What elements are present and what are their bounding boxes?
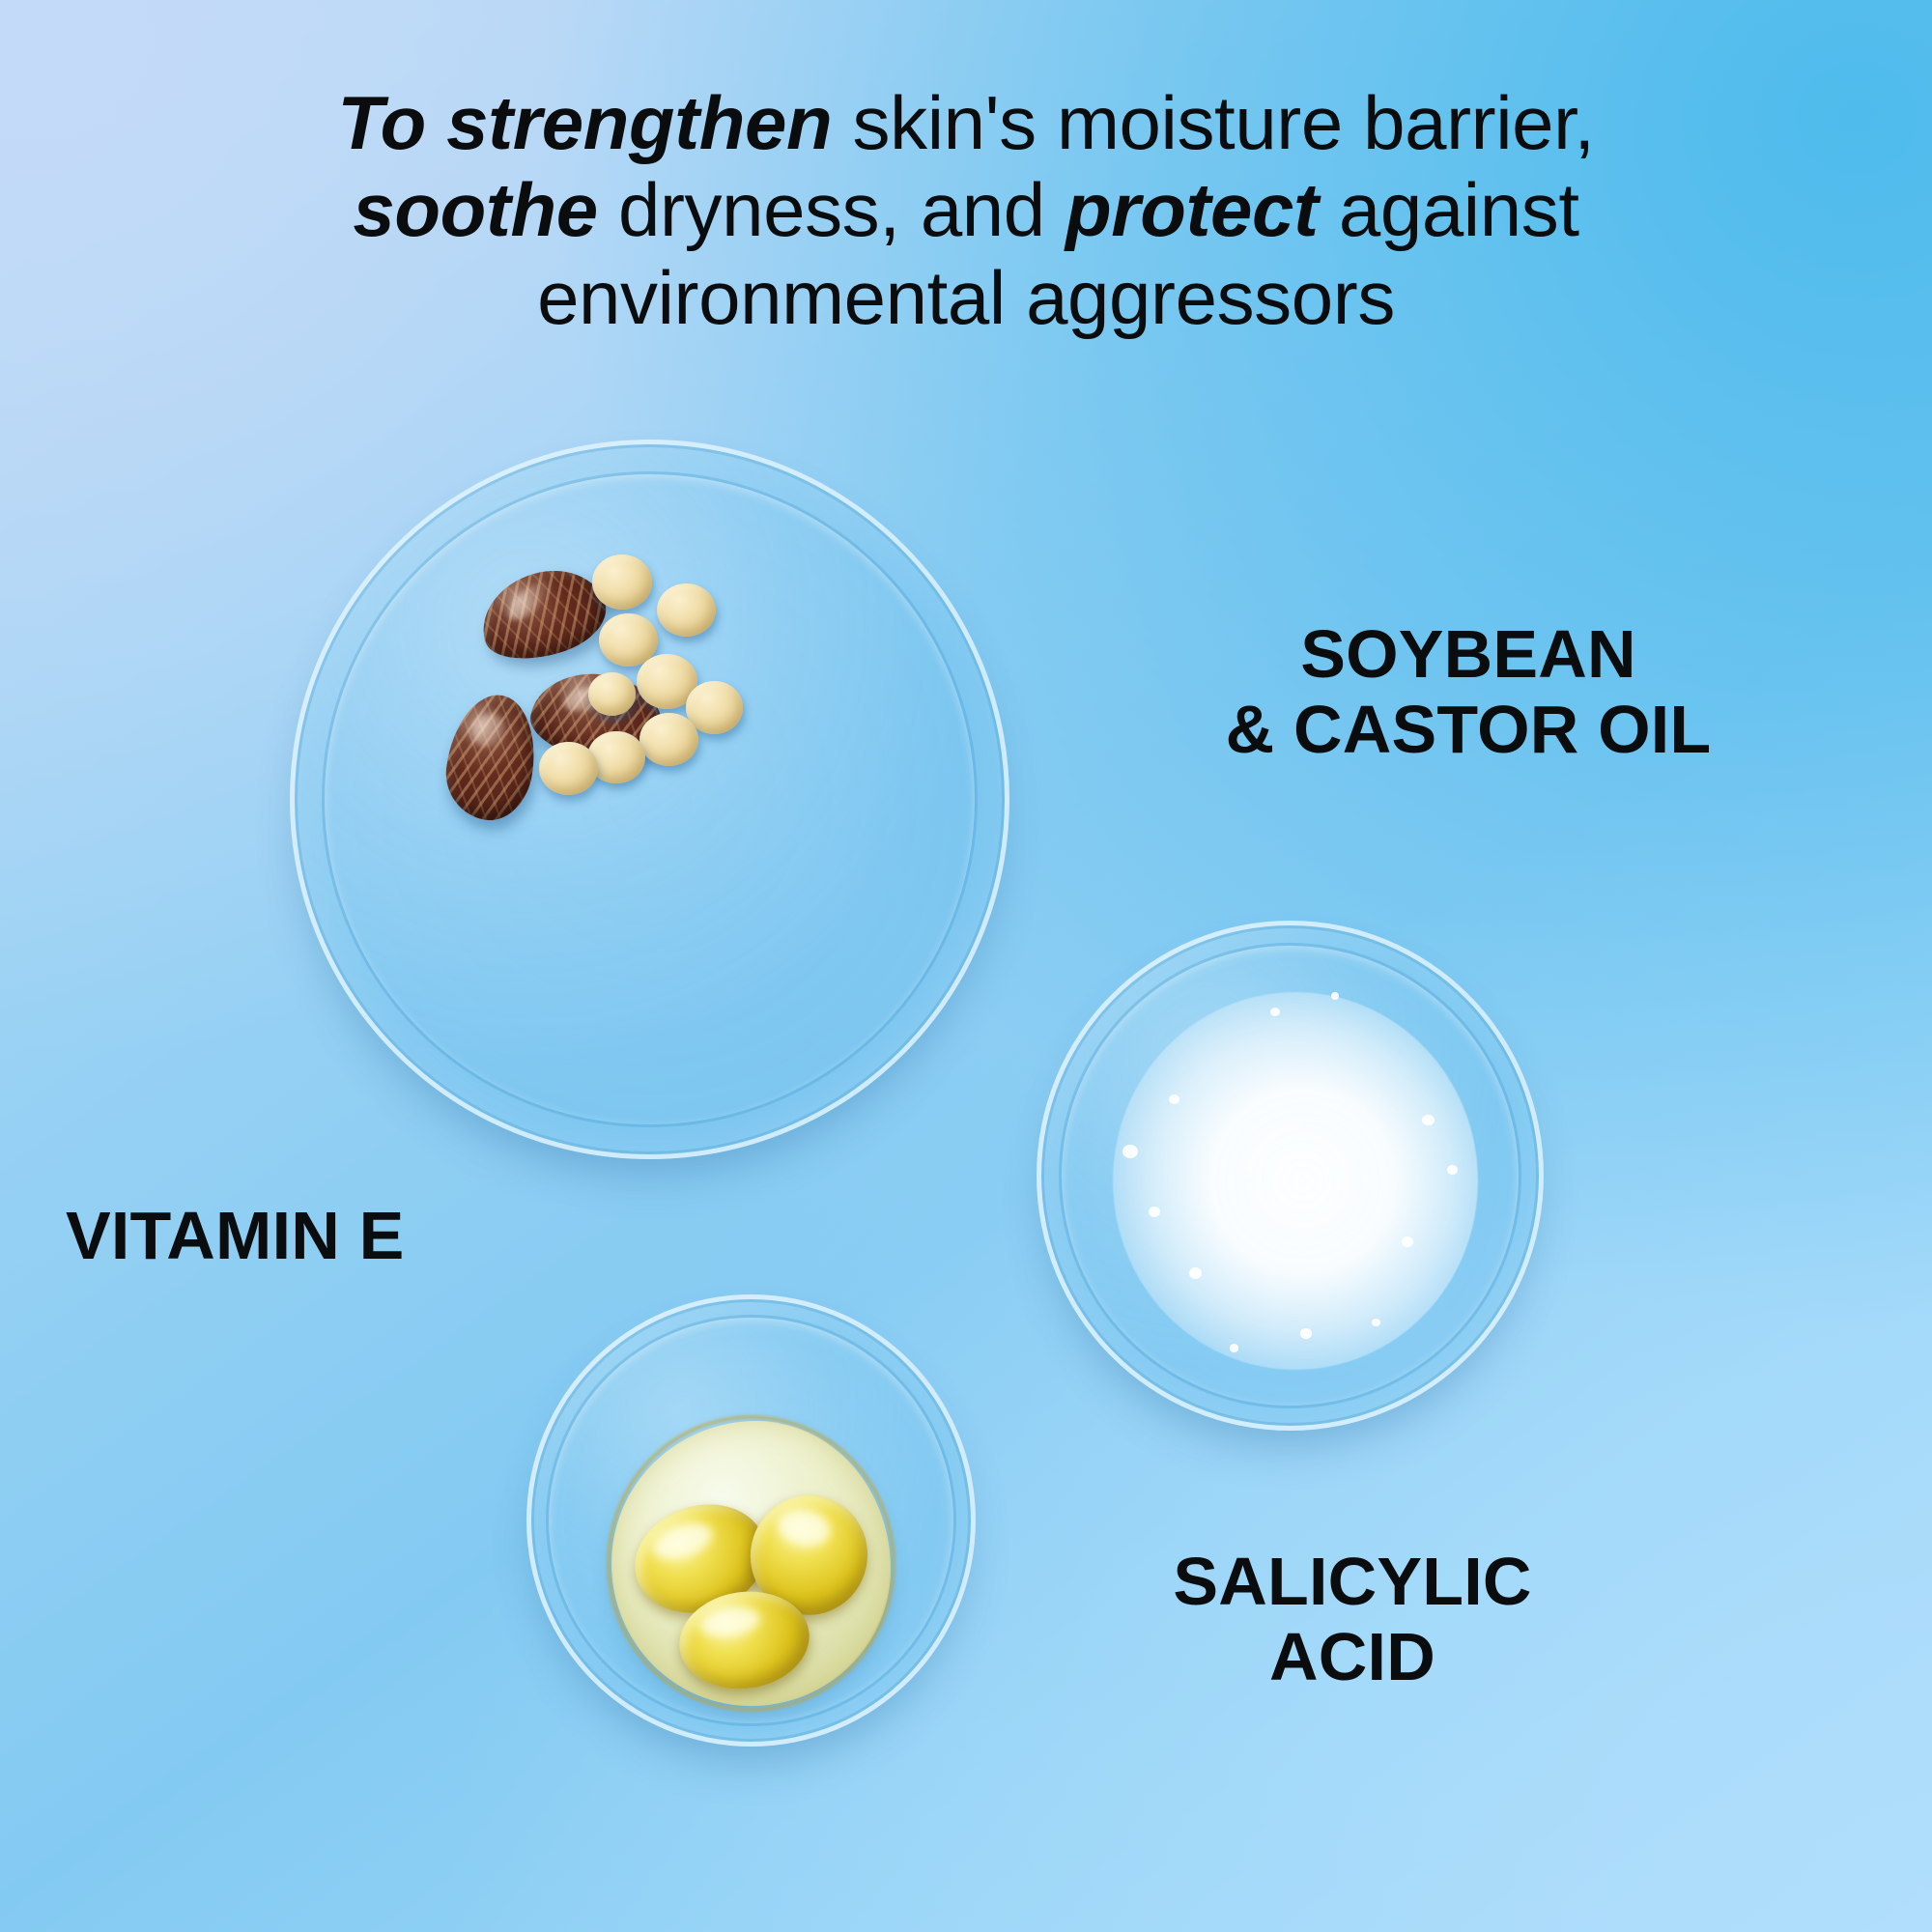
vitamin-e-oil-pool bbox=[611, 1421, 890, 1706]
headline-line-2: soothe dryness, and protect against bbox=[353, 167, 1578, 252]
powder-speck bbox=[1122, 1145, 1138, 1158]
powder-speck bbox=[1447, 1165, 1458, 1175]
soybean bbox=[539, 742, 598, 795]
petri-dish-vitamin-e bbox=[526, 1294, 976, 1747]
headline-line-1: To strengthen skin's moisture barrier, bbox=[337, 80, 1594, 165]
castor-seed-gloss bbox=[503, 575, 554, 625]
label-line-1: SALICYLIC bbox=[1067, 1544, 1637, 1619]
page-headline: To strengthen skin's moisture barrier, s… bbox=[0, 79, 1932, 341]
product-ingredient-poster: To strengthen skin's moisture barrier, s… bbox=[0, 0, 1932, 1932]
headline-text-2: dryness, and bbox=[598, 167, 1065, 252]
headline-emphasis-soothe: soothe bbox=[353, 167, 597, 252]
petri-dish-salicylic-acid bbox=[1037, 921, 1544, 1431]
castor-seed bbox=[440, 690, 543, 827]
capsule-shine bbox=[697, 1604, 761, 1640]
ingredient-label-soybean-castor-oil: SOYBEAN & CASTOR OIL bbox=[1111, 616, 1826, 768]
castor-seed-gloss bbox=[467, 710, 510, 753]
ingredient-label-salicylic-acid: SALICYLIC ACID bbox=[1067, 1544, 1637, 1695]
label-line-2: ACID bbox=[1067, 1619, 1637, 1694]
soybean bbox=[639, 713, 698, 766]
headline-text-1: skin's moisture barrier, bbox=[832, 80, 1594, 165]
ingredient-label-vitamin-e: VITAMIN E bbox=[66, 1198, 607, 1273]
capsule-shine bbox=[648, 1518, 717, 1567]
petri-dish-soybean-castor-oil bbox=[290, 440, 1009, 1159]
powder-speck bbox=[1169, 1094, 1180, 1105]
salicylic-acid-powder bbox=[1113, 992, 1478, 1370]
capsule-shine bbox=[775, 1505, 835, 1551]
label-line-1: SOYBEAN bbox=[1111, 616, 1826, 692]
headline-text-3: against bbox=[1319, 167, 1579, 252]
powder-speck bbox=[1331, 992, 1340, 1000]
powder-speck bbox=[1300, 1328, 1312, 1339]
headline-emphasis-protect: protect bbox=[1065, 167, 1319, 252]
soybean bbox=[657, 583, 716, 637]
powder-speck bbox=[1422, 1115, 1435, 1126]
soybean-castor-cluster bbox=[290, 440, 1009, 1159]
soybean bbox=[592, 554, 653, 610]
label-line-2: & CASTOR OIL bbox=[1111, 692, 1826, 767]
label-line-1: VITAMIN E bbox=[66, 1198, 607, 1273]
headline-line-3: environmental aggressors bbox=[537, 255, 1395, 340]
headline-emphasis-strengthen: To strengthen bbox=[337, 80, 832, 165]
